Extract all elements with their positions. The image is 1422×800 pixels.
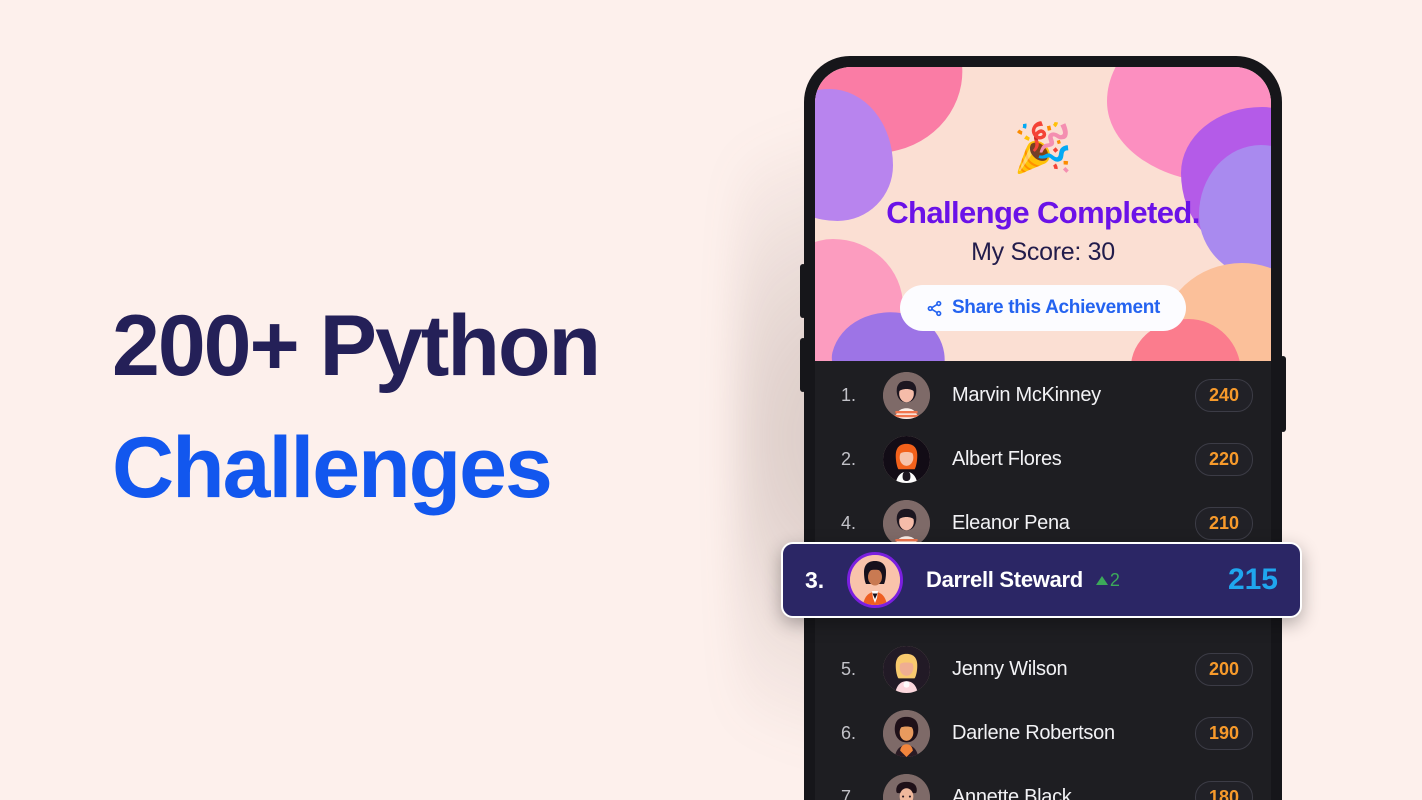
rank-change-value: 2 (1110, 570, 1120, 591)
avatar (883, 646, 930, 693)
share-icon (926, 300, 943, 317)
rank-number: 4. (841, 513, 883, 534)
phone-mockup: 🎉 Challenge Completed. My Score: 30 Shar… (804, 56, 1282, 800)
leaderboard-row[interactable]: 6. Darlene Robertson 190 (815, 701, 1271, 765)
leaderboard-row[interactable]: 2. Albert Flores 220 (815, 427, 1271, 491)
avatar (883, 710, 930, 757)
rank-number: 5. (841, 659, 883, 680)
player-name: Jenny Wilson (952, 658, 1195, 681)
player-name: Marvin McKinney (952, 384, 1195, 407)
challenge-completed-header: 🎉 Challenge Completed. My Score: 30 Shar… (815, 67, 1271, 361)
player-name: Darlene Robertson (952, 722, 1195, 745)
volume-down-button[interactable] (800, 338, 806, 392)
rank-number: 1. (841, 385, 883, 406)
player-name: Annette Black (952, 786, 1195, 800)
player-name: Darrell Steward (926, 567, 1083, 593)
score-badge: 190 (1195, 717, 1253, 750)
score-value: 215 (1228, 563, 1278, 597)
avatar (847, 552, 903, 608)
score-badge: 220 (1195, 443, 1253, 476)
share-button-label: Share this Achievement (952, 297, 1160, 319)
avatar (883, 436, 930, 483)
player-name: Albert Flores (952, 448, 1195, 471)
headline-line-1: 200+ Python (112, 285, 752, 407)
score-badge: 200 (1195, 653, 1253, 686)
leaderboard-row[interactable]: 1. Marvin McKinney 240 (815, 363, 1271, 427)
rank-number: 6. (841, 723, 883, 744)
headline-line-2: Challenges (112, 407, 752, 529)
page-title: 200+ Python Challenges (112, 285, 752, 529)
power-button[interactable] (1280, 356, 1286, 432)
rank-change-indicator: 2 (1096, 570, 1120, 591)
rank-number: 2. (841, 449, 883, 470)
avatar (883, 372, 930, 419)
avatar (883, 774, 930, 800)
phone-screen: 🎉 Challenge Completed. My Score: 30 Shar… (815, 67, 1271, 800)
leaderboard-row-highlighted[interactable]: 3. Darrell Steward 2 215 (781, 542, 1302, 618)
celebration-title: Challenge Completed. (815, 195, 1271, 231)
score-badge: 210 (1195, 507, 1253, 540)
score-badge: 240 (1195, 379, 1253, 412)
player-name: Eleanor Pena (952, 512, 1195, 535)
rank-number: 3. (805, 567, 847, 594)
rank-number: 7. (841, 787, 883, 800)
leaderboard-row[interactable]: 7. Annette Black 180 (815, 765, 1271, 800)
arrow-up-icon (1096, 576, 1108, 585)
share-achievement-button[interactable]: Share this Achievement (900, 285, 1186, 331)
party-popper-icon: 🎉 (815, 125, 1271, 173)
avatar (883, 500, 930, 547)
volume-up-button[interactable] (800, 264, 806, 318)
my-score-label: My Score: 30 (815, 238, 1271, 267)
score-badge: 180 (1195, 781, 1253, 800)
leaderboard-row[interactable]: 5. Jenny Wilson 200 (815, 637, 1271, 701)
